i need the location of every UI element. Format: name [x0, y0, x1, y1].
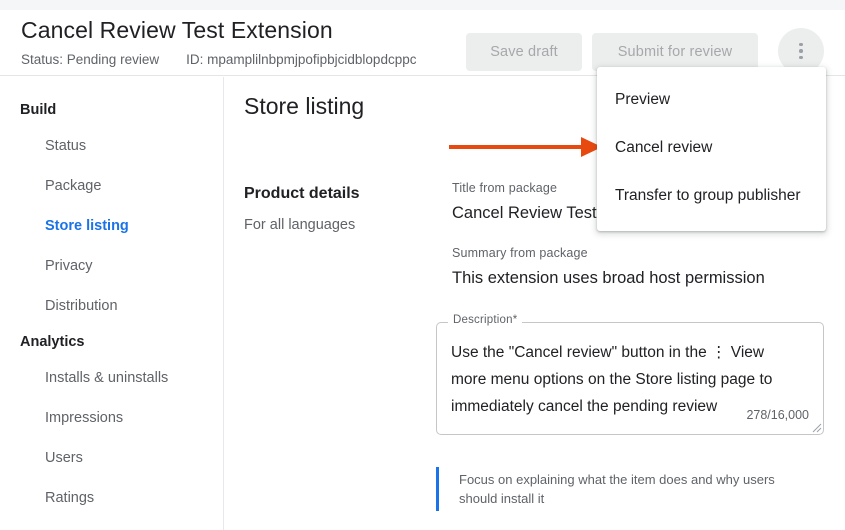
kebab-dot-3 [799, 56, 803, 60]
extension-dashboard-page: Cancel Review Test Extension Status: Pen… [0, 0, 845, 530]
sidebar-item-impressions[interactable]: Impressions [0, 398, 223, 438]
menu-item-transfer-to-group-publisher[interactable]: Transfer to group publisher [597, 172, 826, 220]
section-subtext-for-all-languages: For all languages [244, 217, 355, 233]
kebab-dot-2 [799, 49, 803, 53]
sidebar-item-distribution[interactable]: Distribution [0, 286, 223, 326]
sidebar-group-build: Build [0, 94, 223, 126]
description-field[interactable]: Description* Use the "Cancel review" but… [436, 322, 824, 435]
description-hint-text: Focus on explaining what the item does a… [459, 470, 815, 508]
status-text: Status: Pending review [21, 52, 159, 67]
window-top-strip [0, 0, 845, 10]
more-options-menu: Preview Cancel review Transfer to group … [597, 67, 826, 231]
save-draft-button[interactable]: Save draft [466, 33, 582, 71]
arrow-right-annotation [447, 134, 602, 160]
description-label: Description* [448, 314, 522, 326]
sidebar-item-ratings[interactable]: Ratings [0, 478, 223, 518]
summary-from-package-value: This extension uses broad host permissio… [452, 269, 765, 288]
menu-item-cancel-review[interactable]: Cancel review [597, 124, 826, 172]
sidebar-item-privacy[interactable]: Privacy [0, 246, 223, 286]
submit-for-review-button[interactable]: Submit for review [592, 33, 758, 71]
sidebar-item-store-listing[interactable]: Store listing [0, 206, 223, 246]
summary-from-package-label: Summary from package [452, 246, 588, 260]
sidebar-item-installs-uninstalls[interactable]: Installs & uninstalls [0, 358, 223, 398]
sidebar-nav: Build Status Package Store listing Priva… [0, 77, 224, 530]
menu-item-preview[interactable]: Preview [597, 76, 826, 124]
page-title: Store listing [244, 93, 364, 120]
extension-meta: Status: Pending reviewID: mpamplilnbpmjp… [21, 52, 416, 67]
sidebar-group-analytics: Analytics [0, 326, 223, 358]
section-heading-product-details: Product details [244, 185, 360, 203]
sidebar-item-status[interactable]: Status [0, 126, 223, 166]
description-hint: Focus on explaining what the item does a… [436, 467, 826, 511]
extension-id: ID: mpamplilnbpmjpofipbjcidblopdcppc [186, 52, 416, 67]
title-from-package-label: Title from package [452, 181, 557, 195]
kebab-dot-1 [799, 43, 803, 47]
extension-title: Cancel Review Test Extension [21, 17, 333, 44]
sidebar-item-package[interactable]: Package [0, 166, 223, 206]
description-character-counter: 278/16,000 [746, 408, 809, 422]
sidebar-item-users[interactable]: Users [0, 438, 223, 478]
